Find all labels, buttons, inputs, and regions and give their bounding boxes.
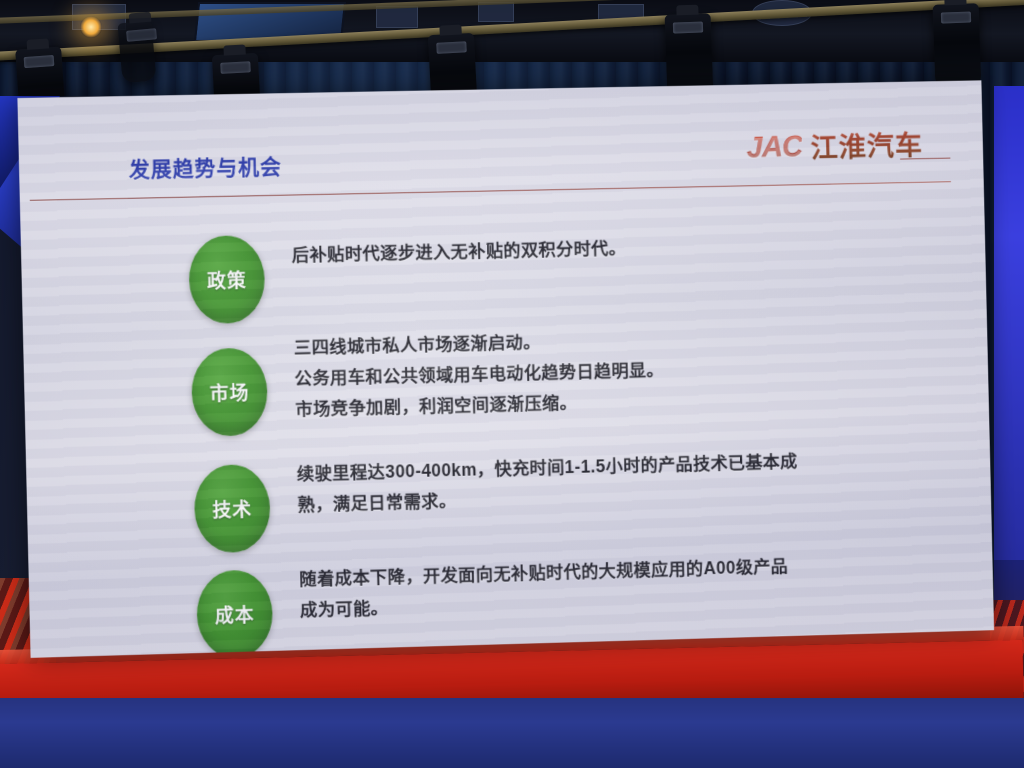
venue-floor <box>0 698 1024 768</box>
slide-title: 发展趋势与机会 <box>128 151 282 184</box>
badge-technology-label: 技术 <box>212 495 252 523</box>
presentation-slide: 发展趋势与机会 JAC 江淮汽车 政策 后补贴时代逐步进入无补贴的双积分时代。 … <box>17 80 994 658</box>
badge-market: 市场 <box>191 347 268 436</box>
content-lines-cost: 随着成本下降，开发面向无补贴时代的大规模应用的A00级产品 成为可能。 <box>271 545 789 627</box>
badge-market-label: 市场 <box>209 378 249 406</box>
content-row-policy: 政策 后补贴时代逐步进入无补贴的双积分时代。 <box>188 227 628 324</box>
stage-lamp-lit-icon <box>80 16 102 38</box>
projection-screen: 发展趋势与机会 JAC 江淮汽车 政策 后补贴时代逐步进入无补贴的双积分时代。 … <box>17 80 994 658</box>
spotlight-icon <box>117 21 156 84</box>
content-lines-market: 三四线城市私人市场逐渐启动。 公务用车和公共领域用车电动化趋势日趋明显。 市场竞… <box>266 318 665 426</box>
badge-cost: 成本 <box>196 569 273 658</box>
jac-logo: JAC 江淮汽车 <box>746 124 924 168</box>
badge-cost-label: 成本 <box>215 600 255 628</box>
content-lines-policy: 后补贴时代逐步进入无补贴的双积分时代。 <box>264 227 627 271</box>
spotlight-icon <box>933 3 982 89</box>
header-rule-dash <box>900 158 950 160</box>
content-row-technology: 技术 续驶里程达300-400km，快充时间1-1.5小时的产品技术已基本成 熟… <box>193 441 799 554</box>
ceiling-panel <box>376 6 418 28</box>
badge-policy-label: 政策 <box>207 266 247 294</box>
jac-logo-latin: JAC <box>746 130 802 165</box>
badge-technology: 技术 <box>194 464 271 554</box>
jac-logo-chinese: 江淮汽车 <box>810 124 923 166</box>
header-divider <box>30 181 951 201</box>
bullet-line: 后补贴时代逐步进入无补贴的双积分时代。 <box>291 233 626 271</box>
badge-policy: 政策 <box>188 235 265 324</box>
content-row-market: 市场 三四线城市私人市场逐渐启动。 公务用车和公共领域用车电动化趋势日趋明显。 … <box>190 318 665 436</box>
content-lines-technology: 续驶里程达300-400km，快充时间1-1.5小时的产品技术已基本成 熟，满足… <box>269 441 799 522</box>
